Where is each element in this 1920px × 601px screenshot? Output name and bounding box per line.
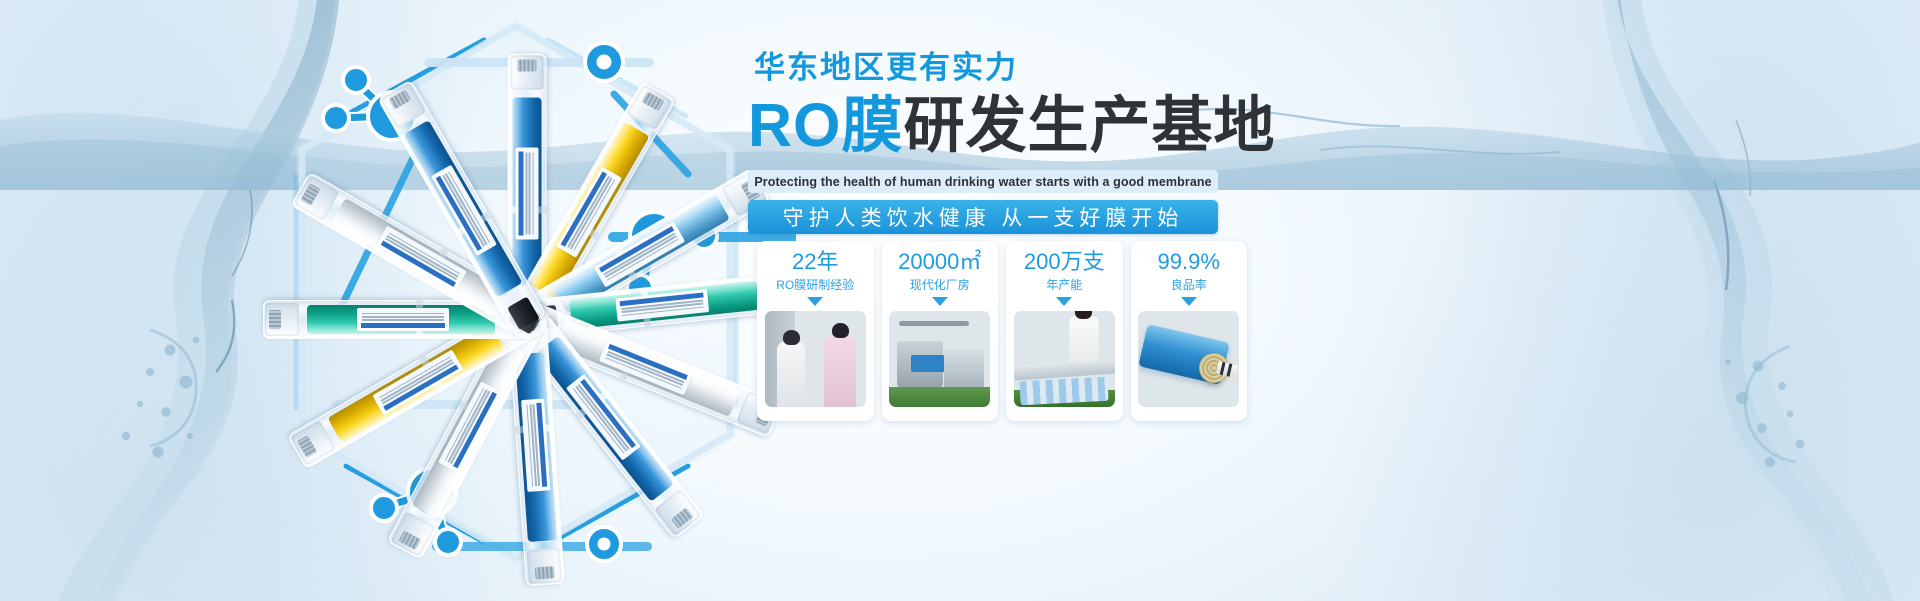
stat-description: 现代化厂房: [910, 276, 970, 293]
english-tagline-bar: Protecting the health of human drinking …: [748, 170, 1218, 193]
stat-description: 年产能: [1046, 276, 1082, 293]
triangle-down-icon: [1056, 297, 1072, 306]
promo-banner: 华东地区更有实力 RO膜研发生产基地 Protecting the health…: [0, 0, 1920, 601]
factory-machinery-photo: [889, 311, 990, 407]
stat-card[interactable]: 200万支 年产能: [1006, 241, 1123, 421]
stat-cards: 22年 RO膜研制经验 20000㎡ 现代化厂房 200万支 年产能: [757, 241, 1247, 421]
stat-number: 99.9%: [1158, 250, 1220, 274]
chinese-slogan-bar: 守护人类饮水健康 从一支好膜开始: [748, 200, 1218, 234]
stat-number: 22年: [792, 250, 838, 274]
corner-glow-top-right: [1410, 0, 1920, 440]
membrane-cartridge-fan: [300, 0, 730, 601]
stat-number: 20000㎡: [898, 250, 981, 274]
triangle-down-icon: [932, 297, 948, 306]
headline-highlight: RO膜: [748, 91, 904, 159]
stat-description: 良品率: [1171, 276, 1207, 293]
headline-rest: 研发生产基地: [904, 91, 1276, 159]
lab-workers-photo: [765, 311, 866, 407]
stat-card[interactable]: 22年 RO膜研制经验: [757, 241, 874, 421]
english-tagline-text: Protecting the health of human drinking …: [754, 175, 1211, 189]
chinese-slogan-text: 守护人类饮水健康 从一支好膜开始: [783, 202, 1184, 232]
water-splash-right-icon: [1490, 0, 1920, 601]
eyebrow-text: 华东地区更有实力: [754, 52, 1268, 83]
membrane-element-photo: [1138, 311, 1239, 407]
stat-card[interactable]: 20000㎡ 现代化厂房: [882, 241, 999, 421]
triangle-down-icon: [1181, 297, 1197, 306]
packing-line-photo: [1014, 311, 1115, 407]
stat-card[interactable]: 99.9% 良品率: [1131, 241, 1248, 421]
corner-glow-bottom-right: [1300, 81, 1920, 601]
page-title: RO膜研发生产基地: [748, 94, 1268, 157]
stat-description: RO膜研制经验: [776, 276, 854, 293]
stat-number: 200万支: [1024, 250, 1105, 274]
banner-text-block: 华东地区更有实力 RO膜研发生产基地 Protecting the health…: [748, 52, 1268, 234]
triangle-down-icon: [807, 297, 823, 306]
